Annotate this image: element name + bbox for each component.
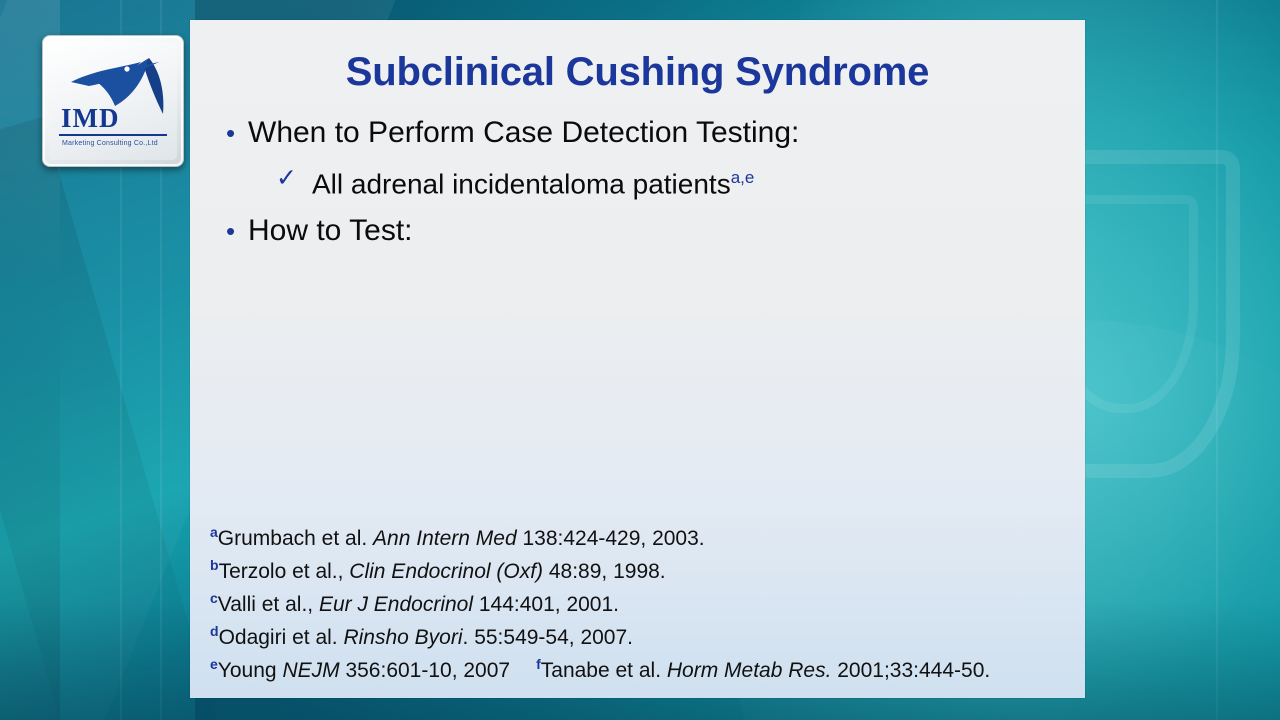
reference-pre-text-2: Tanabe et al. xyxy=(541,659,667,682)
checkmark-icon: ✓ xyxy=(276,158,312,198)
reference-superscript: c xyxy=(210,590,218,606)
reference-pre-text: Terzolo et al., xyxy=(219,560,350,583)
reference-post-text: . 55:549-54, 2007. xyxy=(463,626,633,649)
slide-viewer: IMD Marketing Consulting Co.,Ltd Subclin… xyxy=(0,0,1280,720)
page-title: Subclinical Cushing Syndrome xyxy=(190,50,1085,95)
reference-list: aGrumbach et al. Ann Intern Med 138:424-… xyxy=(210,519,1085,684)
slide-content: Subclinical Cushing Syndrome • When to P… xyxy=(190,20,1085,698)
logo-divider xyxy=(59,134,167,136)
reference-pre-text: Odagiri et al. xyxy=(219,626,344,649)
reference-superscript: a xyxy=(210,524,218,540)
bullet-dot-icon: • xyxy=(226,112,248,154)
reference-item: eYoung NEJM 356:601-10, 2007fTanabe et a… xyxy=(210,651,1085,684)
sub-bullet-superscript: a,e xyxy=(731,168,755,187)
reference-post-text: 144:401, 2001. xyxy=(473,593,619,616)
logo-tagline-text: Marketing Consulting Co.,Ltd xyxy=(62,140,158,147)
sub-bullet-text: All adrenal incidentaloma patients xyxy=(312,168,731,199)
sub-bullet-item-incidentaloma: ✓ All adrenal incidentaloma patientsa,e xyxy=(276,158,1065,204)
bullet-item-when-to-test: • When to Perform Case Detection Testing… xyxy=(226,112,1065,154)
reference-superscript: b xyxy=(210,557,219,573)
reference-journal: Rinsho Byori xyxy=(343,626,462,649)
reference-journal: Eur J Endocrinol xyxy=(319,593,473,616)
reference-item: dOdagiri et al. Rinsho Byori. 55:549-54,… xyxy=(210,618,1085,651)
reference-post-text: 138:424-429, 2003. xyxy=(517,527,705,550)
reference-superscript: e xyxy=(210,656,218,672)
reference-post-text: 48:89, 1998. xyxy=(543,560,666,583)
reference-pre-text: Valli et al., xyxy=(218,593,319,616)
bullet-dot-icon: • xyxy=(226,210,248,252)
reference-journal: NEJM xyxy=(282,659,339,682)
sub-bullet-label: All adrenal incidentaloma patientsa,e xyxy=(312,158,754,204)
reference-item: bTerzolo et al., Clin Endocrinol (Oxf) 4… xyxy=(210,552,1085,585)
reference-journal: Ann Intern Med xyxy=(373,527,517,550)
imd-logo: IMD Marketing Consulting Co.,Ltd xyxy=(42,35,184,167)
reference-item: cValli et al., Eur J Endocrinol 144:401,… xyxy=(210,585,1085,618)
reference-post-text: 356:601-10, 2007 xyxy=(340,659,510,682)
reference-post-text-2: 2001;33:444-50. xyxy=(831,659,990,682)
reference-journal: Clin Endocrinol (Oxf) xyxy=(349,560,543,583)
logo-inner-panel: IMD Marketing Consulting Co.,Ltd xyxy=(49,42,177,160)
bullet-item-how-to-test: • How to Test: xyxy=(226,210,1065,252)
reference-pre-text: Young xyxy=(218,659,283,682)
slide-body: • When to Perform Case Detection Testing… xyxy=(226,112,1065,254)
bullet-label: How to Test: xyxy=(248,210,413,252)
reference-pre-text: Grumbach et al. xyxy=(218,527,373,550)
reference-superscript: d xyxy=(210,623,219,639)
reference-item: aGrumbach et al. Ann Intern Med 138:424-… xyxy=(210,519,1085,552)
reference-journal-2: Horm Metab Res. xyxy=(667,659,832,682)
bullet-label: When to Perform Case Detection Testing: xyxy=(248,112,799,154)
logo-brand-text: IMD xyxy=(61,103,120,134)
